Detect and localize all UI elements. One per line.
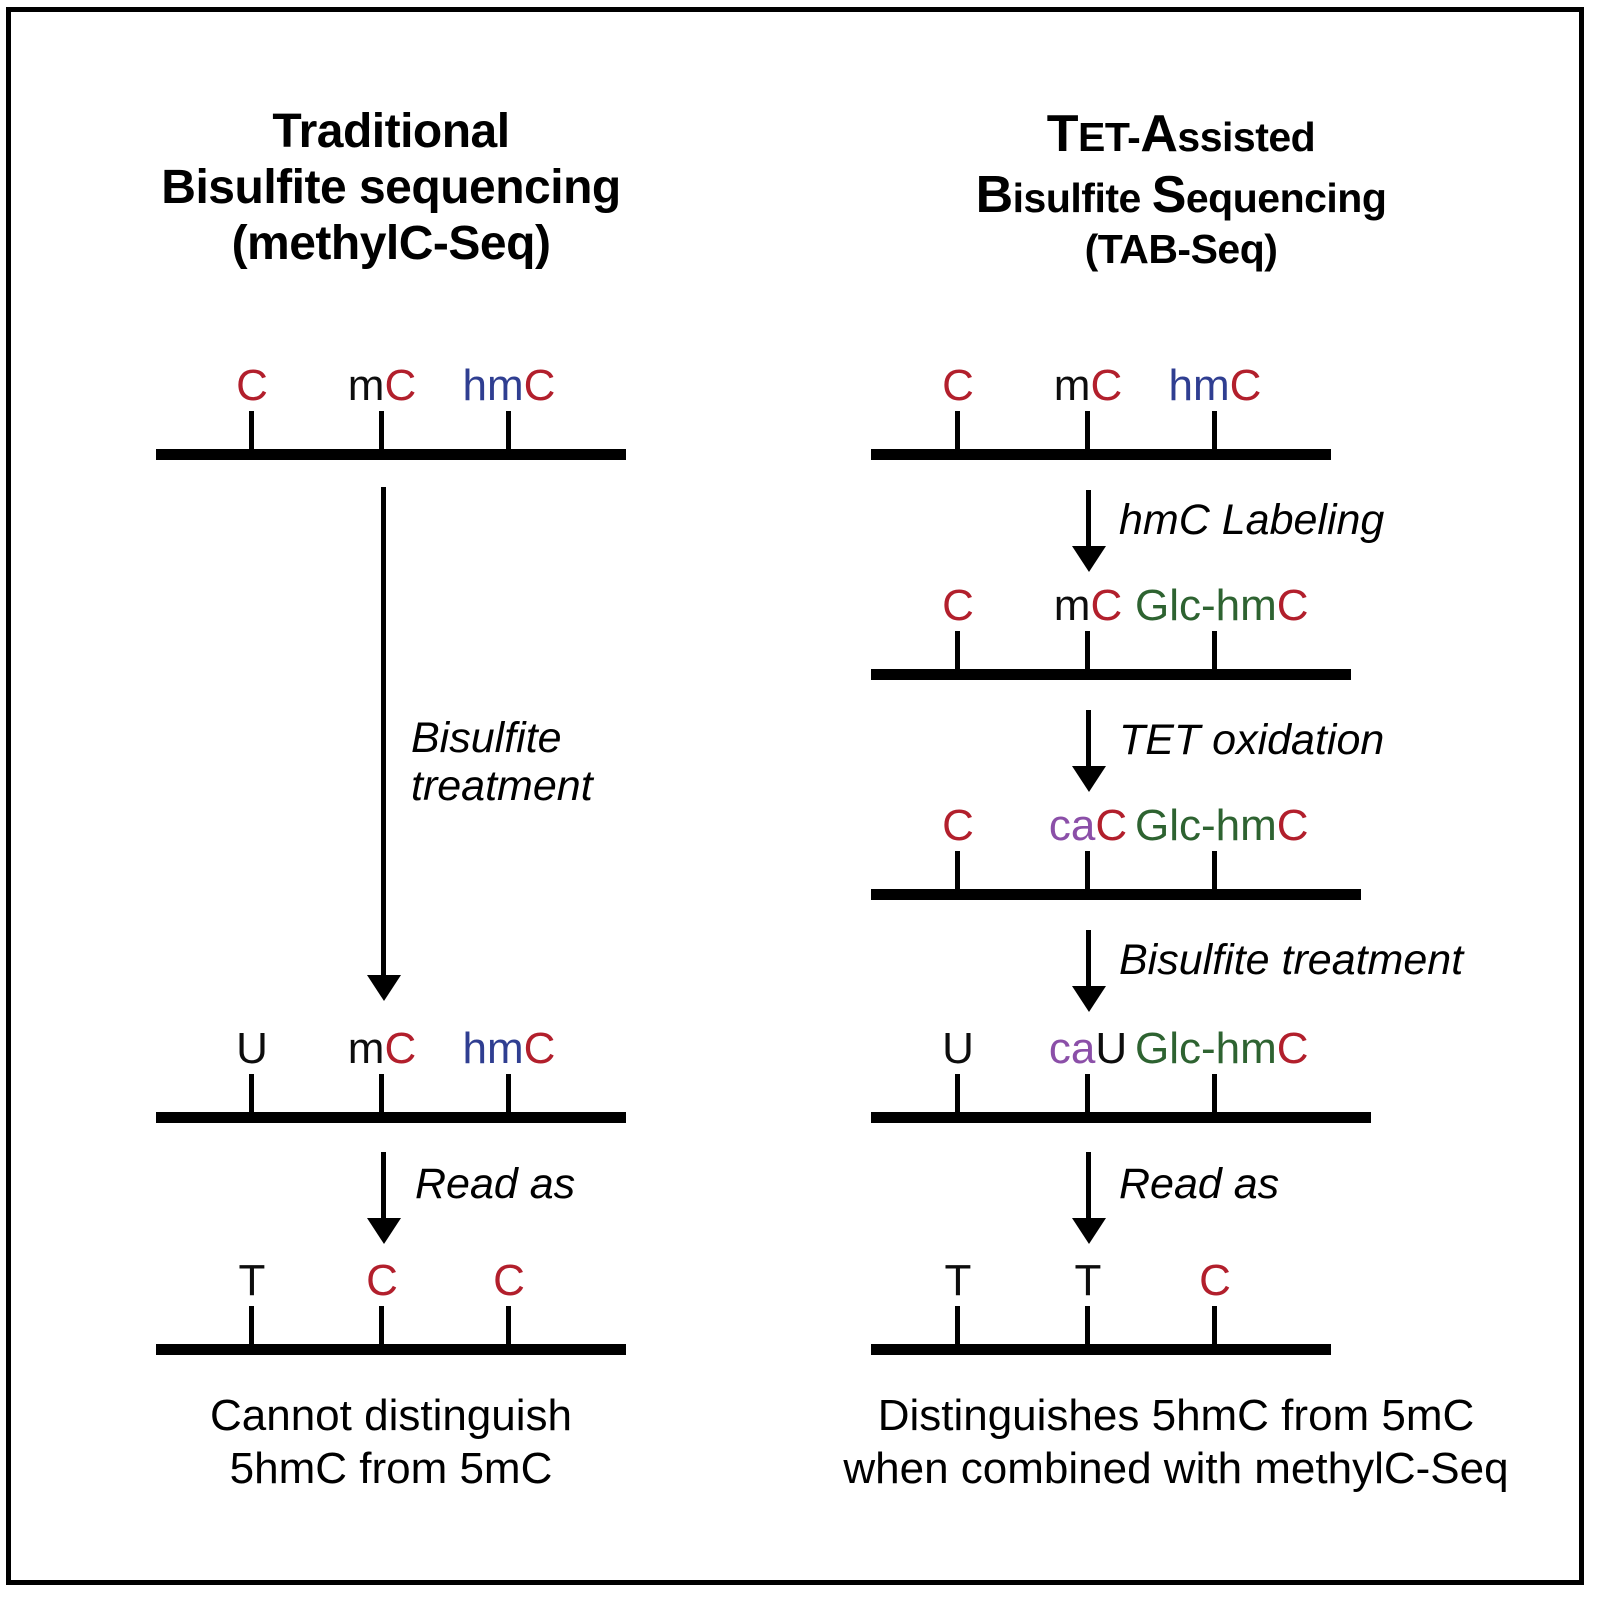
arrow-label-line-1: Bisulfite [411, 714, 593, 762]
site-label-2: hmC [463, 364, 556, 408]
right-title-a: A [1140, 105, 1177, 163]
strand-tick [1212, 631, 1217, 671]
strand-backbone [871, 669, 1351, 680]
strand-tick [249, 1074, 254, 1114]
left-panel-caption: Cannot distinguish 5hmC from 5mC [31, 1390, 751, 1496]
right-tet-oxidation-arrow [1086, 710, 1091, 768]
right-panel-caption: Distinguishes 5hmC from 5mC when combine… [781, 1390, 1571, 1496]
strand-tick [955, 411, 960, 451]
site-base: C [1199, 1256, 1231, 1305]
site-base: U [1095, 1024, 1127, 1073]
left-bisulfite-treatment-label: Bisulfite treatment [411, 714, 593, 810]
site-base: C [524, 361, 556, 410]
site-label-1: caC [1049, 804, 1127, 848]
right-title-ssisted: ssisted [1177, 114, 1315, 160]
site-label-0: C [942, 584, 974, 628]
strand-backbone [871, 449, 1331, 460]
strand-tick [1212, 1074, 1217, 1114]
left-caption-line-2: 5hmC from 5mC [31, 1443, 751, 1496]
strand-tick [1085, 1306, 1090, 1346]
site-base: T [945, 1256, 972, 1305]
site-base: C [942, 361, 974, 410]
right-tet-oxidation-label: TET oxidation [1119, 716, 1384, 764]
site-base: C [384, 361, 416, 410]
right-hmc-labeling-arrow [1086, 490, 1091, 548]
strand-tick [1085, 411, 1090, 451]
site-label-2: Glc-hmC [1135, 804, 1309, 848]
site-base: C [942, 581, 974, 630]
site-base: C [236, 361, 268, 410]
site-prefix: m [348, 1024, 385, 1073]
site-prefix: hm [463, 1024, 524, 1073]
left-title-line-1: Traditional [41, 104, 741, 160]
right-read-as-arrow [1086, 1152, 1091, 1220]
right-title-line-2: Bisulfite Sequencing [791, 165, 1571, 226]
right-title-s: S [1152, 166, 1186, 224]
site-base: C [1090, 581, 1122, 630]
left-read-as-label: Read as [415, 1160, 575, 1208]
site-label-0: T [239, 1259, 266, 1303]
left-title-line-3: (methylC-Seq) [41, 216, 741, 272]
site-base: C [1277, 581, 1309, 630]
site-base: C [366, 1256, 398, 1305]
right-caption-line-1: Distinguishes 5hmC from 5mC [781, 1390, 1571, 1443]
site-base: C [1277, 801, 1309, 850]
right-tet-oxidized-strand: C caC Glc-hmC [871, 802, 1361, 900]
site-base: C [942, 801, 974, 850]
site-prefix: m [1054, 581, 1091, 630]
right-title-b: B [976, 166, 1013, 224]
strand-tick [506, 1074, 511, 1114]
left-initial-dna-strand: C mC hmC [156, 362, 626, 460]
strand-backbone [156, 1344, 626, 1355]
site-label-1: mC [1054, 364, 1122, 408]
right-glucosylated-strand: C mC Glc-hmC [871, 582, 1351, 680]
right-panel-title: TET-Assisted Bisulfite Sequencing (TAB-S… [791, 104, 1571, 274]
strand-backbone [871, 889, 1361, 900]
strand-tick [1085, 851, 1090, 891]
right-title-equencing: equencing [1186, 175, 1387, 221]
site-label-0: C [942, 804, 974, 848]
site-base: C [1090, 361, 1122, 410]
site-prefix: m [1054, 361, 1091, 410]
strand-tick [1212, 1306, 1217, 1346]
strand-tick [955, 631, 960, 671]
site-prefix: Glc-hm [1135, 801, 1277, 850]
arrow-label-line-1: Read as [415, 1160, 575, 1208]
site-base: U [236, 1024, 268, 1073]
right-hmc-labeling-label: hmC Labeling [1119, 496, 1384, 544]
right-title-line-1: TET-Assisted [791, 104, 1571, 165]
site-prefix: ca [1049, 1024, 1095, 1073]
site-base: T [239, 1256, 266, 1305]
site-label-2: Glc-hmC [1135, 584, 1309, 628]
site-label-1: mC [348, 1027, 416, 1071]
strand-tick [1212, 411, 1217, 451]
site-base: C [1230, 361, 1262, 410]
strand-tick [955, 851, 960, 891]
site-label-0: C [942, 364, 974, 408]
site-prefix: hm [1169, 361, 1230, 410]
site-base: C [493, 1256, 525, 1305]
right-read-as-label: Read as [1119, 1160, 1279, 1208]
strand-tick [379, 1074, 384, 1114]
strand-tick [379, 1306, 384, 1346]
right-title-et: ET- [1078, 114, 1140, 160]
strand-tick [506, 1306, 511, 1346]
right-readout-strand: T T C [871, 1257, 1331, 1355]
site-base: U [942, 1024, 974, 1073]
strand-backbone [871, 1344, 1331, 1355]
site-label-1: mC [348, 364, 416, 408]
site-prefix: Glc-hm [1135, 1024, 1277, 1073]
strand-backbone [156, 449, 626, 460]
site-base: C [384, 1024, 416, 1073]
strand-tick [1085, 631, 1090, 671]
site-base: C [1095, 801, 1127, 850]
right-title-line-3: (TAB-Seq) [791, 226, 1571, 274]
right-bisulfite-treatment-label: Bisulfite treatment [1119, 936, 1463, 984]
site-label-0: C [236, 364, 268, 408]
strand-tick [1212, 851, 1217, 891]
left-readout-strand: T C C [156, 1257, 626, 1355]
strand-tick [379, 411, 384, 451]
left-caption-line-1: Cannot distinguish [31, 1390, 751, 1443]
site-label-1: caU [1049, 1027, 1127, 1071]
site-label-0: U [942, 1027, 974, 1071]
site-base: C [1277, 1024, 1309, 1073]
strand-tick [249, 1306, 254, 1346]
site-label-2: hmC [1169, 364, 1262, 408]
strand-tick [249, 411, 254, 451]
site-base: C [524, 1024, 556, 1073]
site-label-2: hmC [463, 1027, 556, 1071]
arrow-label-line-2: treatment [411, 762, 593, 810]
site-label-2: Glc-hmC [1135, 1027, 1309, 1071]
left-bisulfite-treatment-arrow [381, 487, 386, 977]
site-label-0: U [236, 1027, 268, 1071]
left-read-as-arrow [381, 1152, 386, 1220]
site-prefix: m [348, 361, 385, 410]
site-label-0: T [945, 1259, 972, 1303]
site-label-1: C [366, 1259, 398, 1303]
right-title-t: T [1047, 105, 1078, 163]
site-prefix: ca [1049, 801, 1095, 850]
site-prefix: hm [463, 361, 524, 410]
strand-tick [1085, 1074, 1090, 1114]
site-base: T [1075, 1256, 1102, 1305]
site-label-2: C [1199, 1259, 1231, 1303]
left-post-bisulfite-strand: U mC hmC [156, 1025, 626, 1123]
strand-tick [955, 1306, 960, 1346]
site-label-2: C [493, 1259, 525, 1303]
site-label-1: mC [1054, 584, 1122, 628]
strand-tick [506, 411, 511, 451]
figure-frame: Traditional Bisulfite sequencing (methyl… [6, 7, 1584, 1585]
left-title-line-2: Bisulfite sequencing [41, 160, 741, 216]
right-initial-dna-strand: C mC hmC [871, 362, 1331, 460]
left-panel-title: Traditional Bisulfite sequencing (methyl… [41, 104, 741, 272]
site-label-1: T [1075, 1259, 1102, 1303]
right-caption-line-2: when combined with methylC-Seq [781, 1443, 1571, 1496]
right-post-bisulfite-strand: U caU Glc-hmC [871, 1025, 1371, 1123]
right-title-isulfite: isulfite [1013, 175, 1152, 221]
right-bisulfite-treatment-arrow [1086, 930, 1091, 988]
strand-tick [955, 1074, 960, 1114]
strand-backbone [156, 1112, 626, 1123]
site-prefix: Glc-hm [1135, 581, 1277, 630]
strand-backbone [871, 1112, 1371, 1123]
